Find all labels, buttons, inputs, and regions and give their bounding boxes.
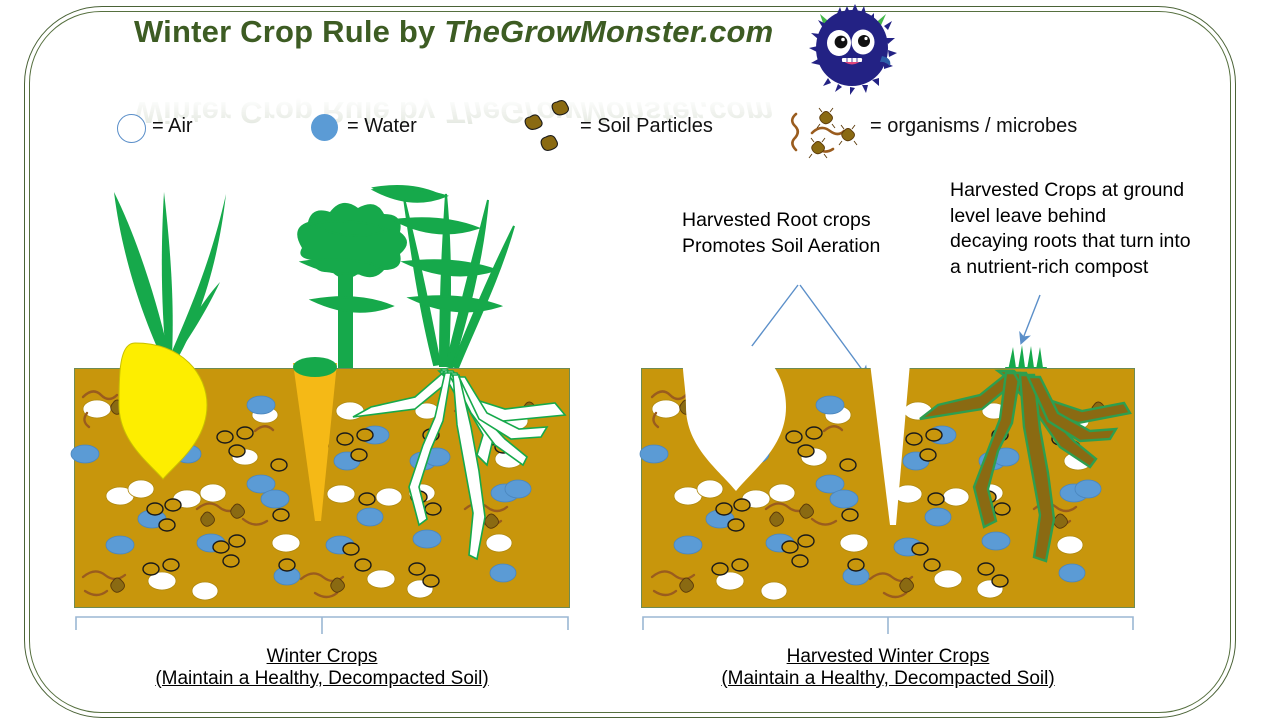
- right-caption-line2: (Maintain a Healthy, Decompacted Soil): [721, 668, 1054, 689]
- legend-label-soil-particles: = Soil Particles: [580, 115, 713, 138]
- air-circle-icon: [117, 114, 146, 143]
- left-panel-bracket: [74, 612, 570, 638]
- right-panel-caption: Harvested Winter Crops (Maintain a Healt…: [641, 646, 1135, 690]
- right-soil-contents: [642, 369, 1136, 609]
- infographic-canvas: Winter Crop Rule by TheGrowMonster.com W…: [0, 0, 1284, 727]
- arrow-to-stubble: [1022, 295, 1040, 341]
- legend-label-air: = Air: [152, 115, 193, 138]
- legend-label-organisms: = organisms / microbes: [870, 115, 1077, 138]
- fibrous-roots: [353, 369, 565, 559]
- right-caption-line1: Harvested Winter Crops: [787, 646, 990, 667]
- left-caption-line1: Winter Crops: [267, 646, 378, 667]
- right-annotation-note: Harvested Crops at ground level leave be…: [950, 178, 1191, 281]
- water-circle-icon: [311, 114, 338, 141]
- right-annotation-arrow: [1000, 295, 1060, 351]
- organisms-microbes-icon: [786, 104, 862, 160]
- left-caption-line2: (Maintain a Healthy, Decompacted Soil): [155, 668, 488, 689]
- left-soil-contents: [75, 369, 571, 609]
- soil-particles-icon: [520, 104, 582, 160]
- left-panel-caption: Winter Crops (Maintain a Healthy, Decomp…: [74, 646, 570, 690]
- decaying-roots: [920, 371, 1130, 561]
- turnip-leaves: [114, 192, 226, 362]
- left-soil-panel: [74, 368, 570, 608]
- right-soil-panel: [641, 368, 1135, 608]
- legend: = Air = Water = Soil Particles: [0, 0, 1284, 170]
- legend-label-water: = Water: [347, 115, 417, 138]
- left-annotation-note: Harvested Root crops Promotes Soil Aerat…: [682, 208, 880, 259]
- arrow-to-carrot-cavity: [800, 285, 866, 375]
- right-panel-bracket: [641, 612, 1135, 638]
